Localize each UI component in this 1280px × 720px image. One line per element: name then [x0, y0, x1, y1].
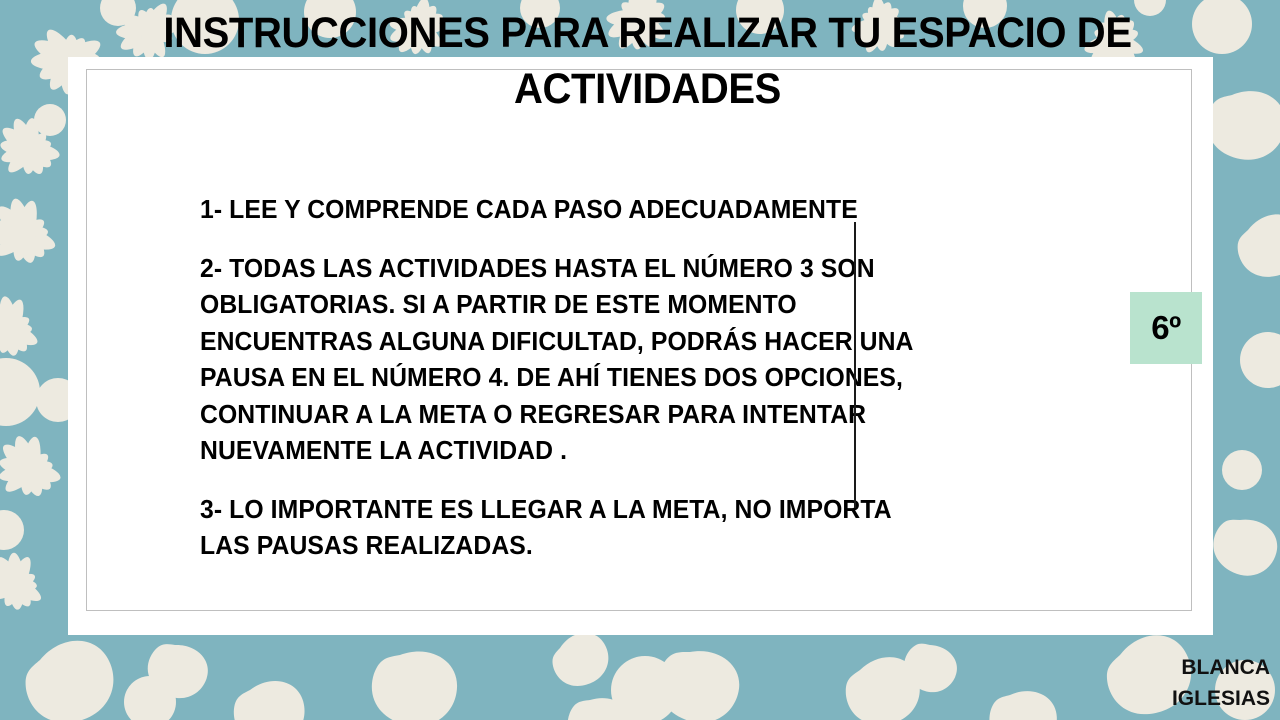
- grade-badge-label: 6º: [1151, 311, 1180, 344]
- text-cursor: [854, 222, 856, 508]
- instructions-list: 1- LEE Y COMPRENDE CADA PASO ADECUADAMEN…: [200, 192, 1073, 565]
- page-title: INSTRUCCIONES PARA REALIZAR TU ESPACIO D…: [101, 5, 1194, 117]
- instruction-step-3: 3- LO IMPORTANTE ES LLEGAR A LA META, NO…: [200, 492, 1073, 565]
- instruction-step-1: 1- LEE Y COMPRENDE CADA PASO ADECUADAMEN…: [200, 192, 1073, 229]
- grade-badge: 6º: [1130, 292, 1202, 364]
- author-signature: BLANCA IGLESIAS: [1172, 652, 1270, 714]
- instruction-step-2: 2- TODAS LAS ACTIVIDADES HASTA EL NÚMERO…: [200, 251, 1073, 470]
- slide-canvas: INSTRUCCIONES PARA REALIZAR TU ESPACIO D…: [0, 0, 1280, 720]
